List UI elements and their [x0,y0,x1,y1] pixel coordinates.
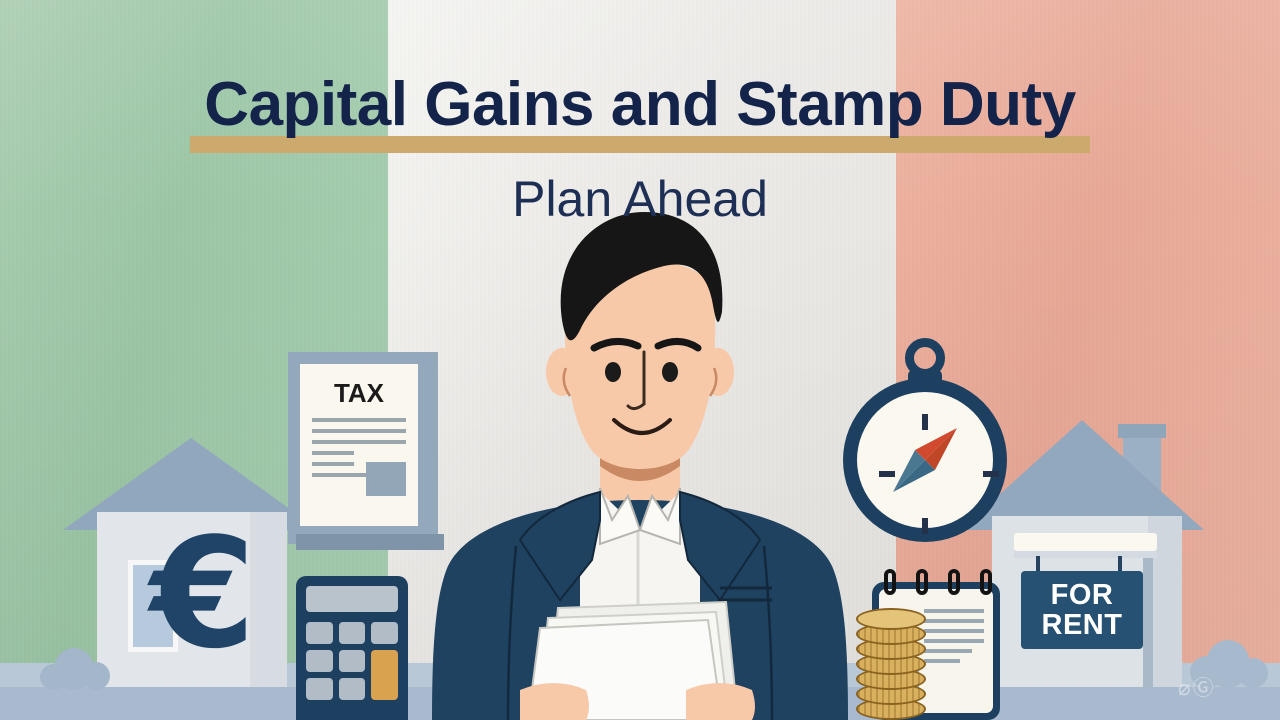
watermark-logo: ⌀Ⓖ [1178,672,1216,702]
page-title: Capital Gains and Stamp Duty [204,74,1075,136]
page-subtitle: Plan Ahead [0,174,1280,224]
title-block: Capital Gains and Stamp Duty [0,74,1280,136]
slide-canvas: € TAX [0,0,1280,720]
